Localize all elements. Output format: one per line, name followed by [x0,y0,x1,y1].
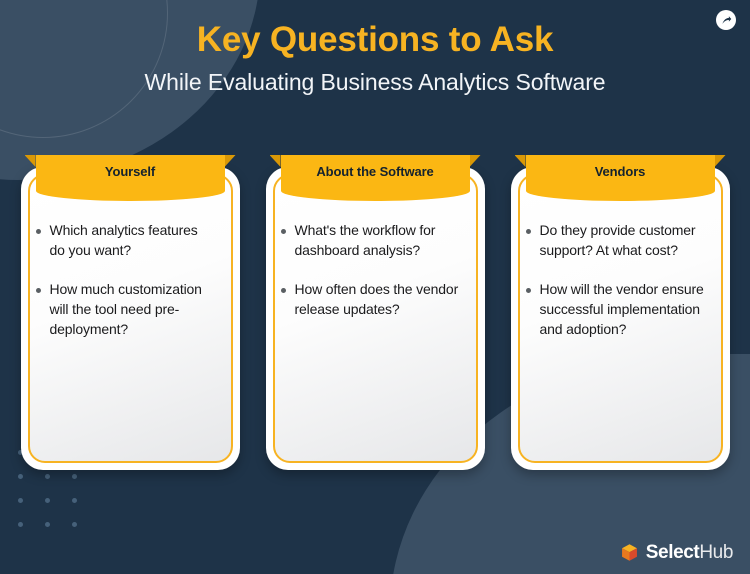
list-item: What's the workflow for dashboard analys… [281,221,461,261]
header: Key Questions to Ask While Evaluating Bu… [0,0,750,96]
bullet-text: How much customization will the tool nee… [50,280,216,340]
question-card: Yourself Which analytics features do you… [21,155,240,470]
logo-text-primary: Select [646,542,700,563]
ribbon-fold-right-icon [225,155,236,167]
bullet-dot-icon [36,288,41,293]
bullet-text: What's the workflow for dashboard analys… [295,221,461,261]
ribbon-fold-right-icon [470,155,481,167]
dot [45,522,50,527]
bullet-text: Which analytics features do you want? [50,221,216,261]
selecthub-wordmark: SelectHub [646,543,733,562]
dot [45,498,50,503]
bullet-dot-icon [36,229,41,234]
cards-row: Yourself Which analytics features do you… [0,155,750,470]
dot [18,522,23,527]
card-ribbon: Vendors [526,155,715,201]
page-title: Key Questions to Ask [0,20,750,60]
ribbon-fold-left-icon [270,155,281,167]
ribbon-fold-left-icon [515,155,526,167]
ribbon-banner: Vendors [526,155,715,201]
dot [72,522,77,527]
selecthub-cube-icon [620,543,639,562]
selecthub-logo[interactable]: SelectHub [620,543,733,562]
bullet-text: How will the vendor ensure successful im… [540,280,706,340]
list-item: Do they provide customer support? At wha… [526,221,706,261]
dot [18,498,23,503]
question-card: About the Software What's the workflow f… [266,155,485,470]
dot [18,474,23,479]
list-item: How much customization will the tool nee… [36,280,216,340]
bullet-dot-icon [526,229,531,234]
card-bullet-list: Do they provide customer support? At wha… [526,221,706,358]
ribbon-banner: Yourself [36,155,225,201]
dot [45,474,50,479]
share-button[interactable] [716,10,736,30]
infographic-canvas: Key Questions to Ask While Evaluating Bu… [0,0,750,574]
card-title: Yourself [105,164,155,179]
bullet-dot-icon [281,229,286,234]
card-ribbon: Yourself [36,155,225,201]
share-arrow-icon [721,15,732,26]
bullet-text: How often does the vendor release update… [295,280,461,320]
logo-text-secondary: Hub [699,542,733,563]
list-item: How often does the vendor release update… [281,280,461,320]
ribbon-banner: About the Software [281,155,470,201]
bullet-text: Do they provide customer support? At wha… [540,221,706,261]
question-card: Vendors Do they provide customer support… [511,155,730,470]
list-item: Which analytics features do you want? [36,221,216,261]
bullet-dot-icon [281,288,286,293]
page-subtitle: While Evaluating Business Analytics Soft… [0,69,750,96]
card-title: Vendors [595,164,646,179]
ribbon-fold-right-icon [715,155,726,167]
card-bullet-list: What's the workflow for dashboard analys… [281,221,461,339]
dot [72,498,77,503]
list-item: How will the vendor ensure successful im… [526,280,706,340]
ribbon-fold-left-icon [25,155,36,167]
dot [72,474,77,479]
bullet-dot-icon [526,288,531,293]
card-title: About the Software [316,164,433,179]
card-ribbon: About the Software [281,155,470,201]
card-bullet-list: Which analytics features do you want? Ho… [36,221,216,358]
